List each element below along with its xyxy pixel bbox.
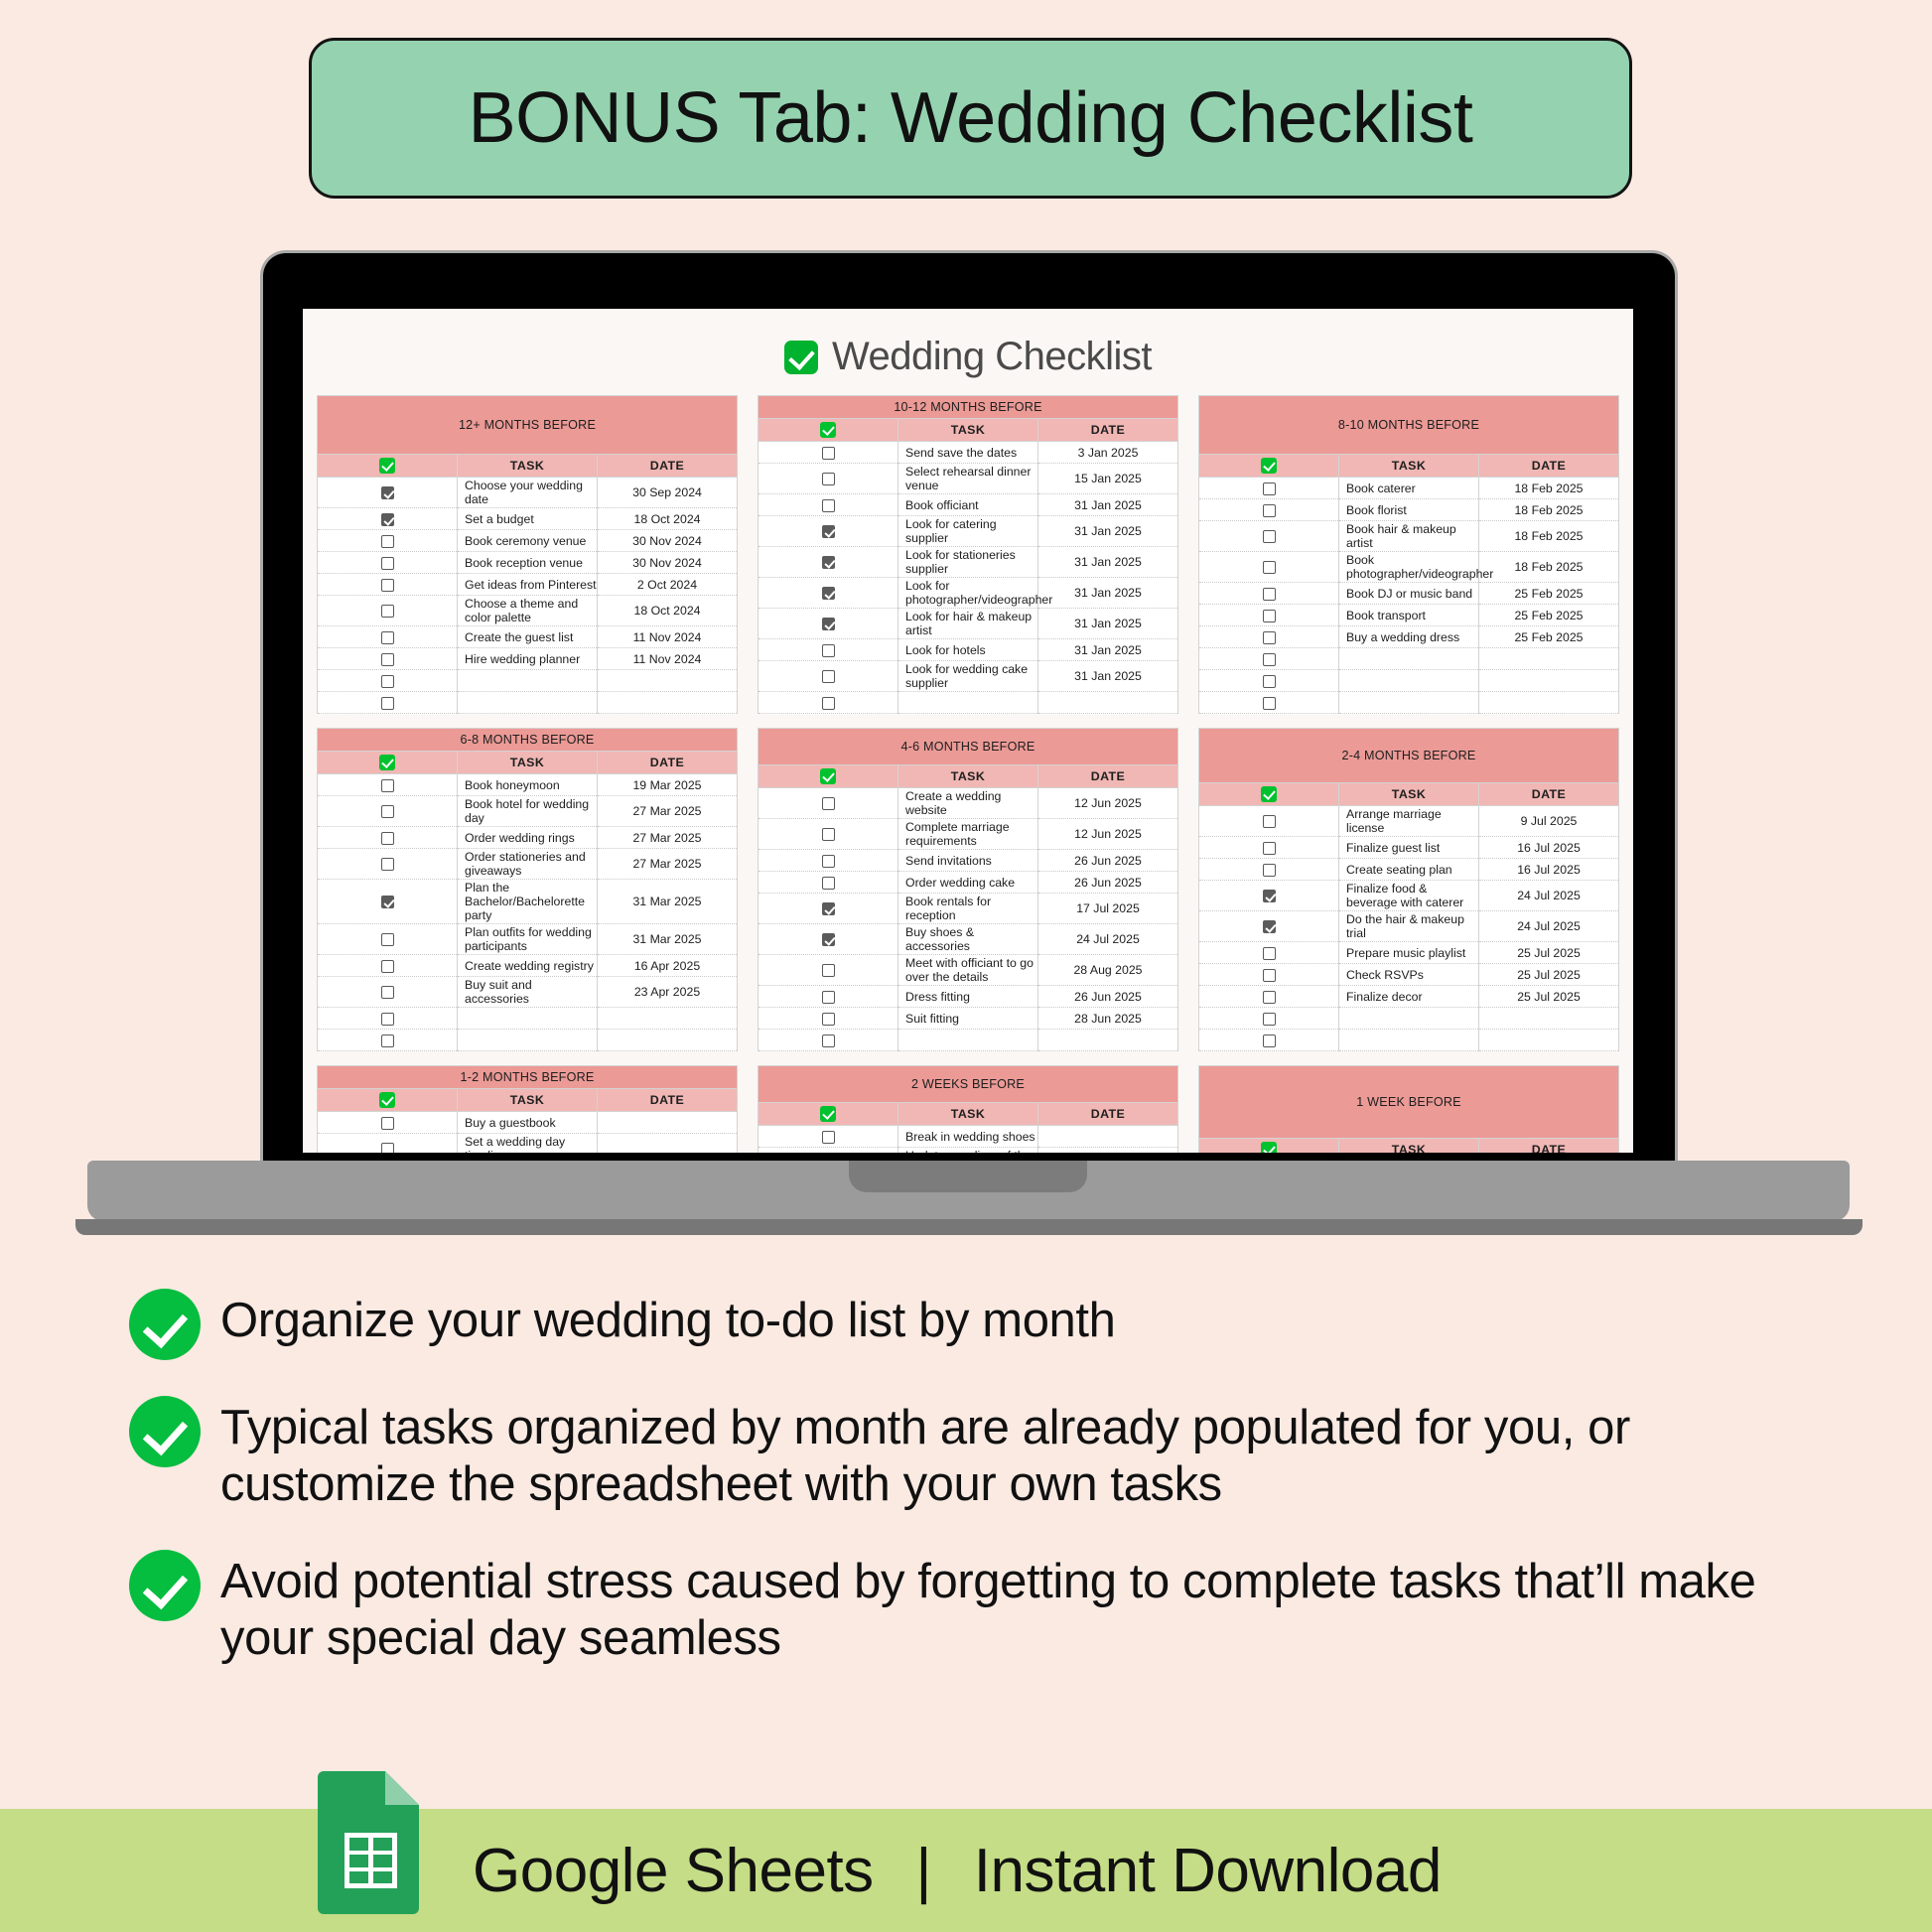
task-checkbox[interactable]	[1263, 561, 1276, 574]
date-cell[interactable]	[598, 1134, 738, 1154]
check-all-icon[interactable]	[820, 1106, 836, 1122]
task-checkbox[interactable]	[381, 697, 394, 710]
task-checkbox[interactable]	[1263, 653, 1276, 666]
task-cell[interactable]	[1339, 648, 1479, 670]
task-checkbox-cell[interactable]	[759, 516, 898, 547]
task-cell[interactable]: Create seating plan	[1339, 859, 1479, 881]
date-cell[interactable]: 25 Jul 2025	[1479, 964, 1619, 986]
date-cell[interactable]: 26 Jun 2025	[1038, 986, 1178, 1008]
task-cell[interactable]: Arrange marriage license	[1339, 806, 1479, 837]
date-cell[interactable]	[598, 1112, 738, 1134]
task-checkbox-cell[interactable]	[759, 924, 898, 955]
task-cell[interactable]: Finalize food & beverage with caterer	[1339, 881, 1479, 911]
date-cell[interactable]: 24 Jul 2025	[1479, 881, 1619, 911]
date-cell[interactable]	[598, 670, 738, 692]
task-checkbox[interactable]	[822, 644, 835, 657]
task-checkbox-cell[interactable]	[1199, 837, 1339, 859]
date-cell[interactable]: 19 Mar 2025	[598, 774, 738, 796]
task-cell[interactable]: Order stationeries and giveaways	[458, 849, 598, 880]
date-cell[interactable]: 30 Sep 2024	[598, 478, 738, 508]
task-checkbox-cell[interactable]	[1199, 605, 1339, 626]
date-cell[interactable]: 24 Jul 2025	[1038, 924, 1178, 955]
task-checkbox-cell[interactable]	[318, 692, 458, 714]
date-cell[interactable]: 27 Mar 2025	[598, 827, 738, 849]
feature-bullet: Organize your wedding to-do list by mont…	[129, 1287, 1837, 1360]
task-checkbox-cell[interactable]	[318, 574, 458, 596]
task-cell[interactable]: Finalize guest list	[1339, 837, 1479, 859]
task-checkbox[interactable]	[381, 513, 394, 526]
task-checkbox[interactable]	[1263, 697, 1276, 710]
task-checkbox-cell[interactable]	[1199, 552, 1339, 583]
date-cell[interactable]: 12 Jun 2025	[1038, 788, 1178, 819]
task-checkbox-cell[interactable]	[1199, 986, 1339, 1008]
table-row: Create the guest list11 Nov 2024	[318, 626, 738, 648]
date-cell[interactable]: 25 Jul 2025	[1479, 942, 1619, 964]
task-checkbox-cell[interactable]	[759, 661, 898, 692]
task-checkbox[interactable]	[822, 1013, 835, 1026]
task-cell[interactable]: Buy a guestbook	[458, 1112, 598, 1134]
task-checkbox[interactable]	[822, 670, 835, 683]
table-row: Book reception venue30 Nov 2024	[318, 552, 738, 574]
date-cell[interactable]: 28 Aug 2025	[1038, 955, 1178, 986]
task-cell[interactable]	[458, 670, 598, 692]
task-checkbox[interactable]	[1263, 815, 1276, 828]
task-checkbox-cell[interactable]	[759, 850, 898, 872]
task-checkbox-cell[interactable]	[318, 508, 458, 530]
table-title: 10-12 MONTHS BEFORE	[759, 396, 1178, 419]
task-checkbox-cell[interactable]	[759, 464, 898, 494]
task-checkbox[interactable]	[822, 587, 835, 600]
task-checkbox[interactable]	[381, 631, 394, 644]
checklist-table: 4-6 MONTHS BEFORETASKDATECreate a weddin…	[758, 728, 1178, 1051]
task-checkbox[interactable]	[1263, 842, 1276, 855]
date-cell[interactable]: 18 Feb 2025	[1479, 521, 1619, 552]
date-cell[interactable]: 11 Nov 2024	[598, 648, 738, 670]
header-check-toggle[interactable]	[759, 1103, 898, 1126]
task-cell[interactable]: Book transport	[1339, 605, 1479, 626]
task-checkbox-cell[interactable]	[1199, 911, 1339, 942]
date-cell[interactable]: 23 Apr 2025	[598, 977, 738, 1008]
date-cell[interactable]: 11 Nov 2024	[598, 626, 738, 648]
date-cell[interactable]	[598, 692, 738, 714]
task-checkbox-cell[interactable]	[759, 692, 898, 714]
table-row: Book rentals for reception17 Jul 2025	[759, 894, 1178, 924]
task-checkbox[interactable]	[822, 697, 835, 710]
task-checkbox-cell[interactable]	[759, 1030, 898, 1051]
task-checkbox-cell[interactable]	[1199, 692, 1339, 714]
task-checkbox[interactable]	[822, 991, 835, 1004]
task-checkbox-cell[interactable]	[318, 774, 458, 796]
date-cell[interactable]	[1038, 1030, 1178, 1051]
check-all-icon[interactable]	[820, 768, 836, 784]
task-checkbox-cell[interactable]	[759, 955, 898, 986]
task-checkbox[interactable]	[1263, 991, 1276, 1004]
task-checkbox[interactable]	[822, 447, 835, 460]
date-cell[interactable]: 25 Feb 2025	[1479, 626, 1619, 648]
task-cell[interactable]: Book rentals for reception	[898, 894, 1038, 924]
task-checkbox-cell[interactable]	[1199, 499, 1339, 521]
task-cell[interactable]: Order wedding cake	[898, 872, 1038, 894]
task-cell[interactable]: Complete marriage requirements	[898, 819, 1038, 850]
task-checkbox-cell[interactable]	[759, 639, 898, 661]
table-row: Book officiant31 Jan 2025	[759, 494, 1178, 516]
task-cell[interactable]	[898, 1030, 1038, 1051]
date-cell[interactable]: 26 Jun 2025	[1038, 872, 1178, 894]
task-cell[interactable]: Book DJ or music band	[1339, 583, 1479, 605]
task-cell[interactable]: Get ideas from Pinterest	[458, 574, 598, 596]
task-checkbox[interactable]	[381, 579, 394, 592]
task-checkbox-cell[interactable]	[318, 827, 458, 849]
task-checkbox[interactable]	[1263, 631, 1276, 644]
task-cell[interactable]: Buy suit and accessories	[458, 977, 598, 1008]
date-cell[interactable]: 18 Oct 2024	[598, 508, 738, 530]
task-checkbox[interactable]	[381, 805, 394, 818]
task-checkbox[interactable]	[1263, 890, 1276, 902]
date-cell[interactable]	[598, 1030, 738, 1051]
task-checkbox[interactable]	[1263, 969, 1276, 982]
task-cell[interactable]: Plan outfits for wedding participants	[458, 924, 598, 955]
table-row	[318, 670, 738, 692]
task-cell[interactable]: Book honeymoon	[458, 774, 598, 796]
task-checkbox[interactable]	[381, 858, 394, 871]
footer-content: Google Sheets | Instant Download	[314, 1809, 1442, 1932]
table-row	[318, 1008, 738, 1030]
task-checkbox[interactable]	[1263, 675, 1276, 688]
task-cell[interactable]	[458, 1008, 598, 1030]
column-header-date: DATE	[598, 455, 738, 478]
task-checkbox-cell[interactable]	[759, 894, 898, 924]
task-cell[interactable]: Choose a theme and color palette	[458, 596, 598, 626]
date-cell[interactable]	[1479, 692, 1619, 714]
task-checkbox-cell[interactable]	[318, 849, 458, 880]
date-cell[interactable]: 27 Mar 2025	[598, 796, 738, 827]
task-checkbox-cell[interactable]	[1199, 859, 1339, 881]
date-cell[interactable]: 24 Jul 2025	[1479, 911, 1619, 942]
task-cell[interactable]: Book florist	[1339, 499, 1479, 521]
task-checkbox-cell[interactable]	[318, 1112, 458, 1134]
task-checkbox-cell[interactable]	[759, 609, 898, 639]
table-row: Plan the Bachelor/Bachelorette party31 M…	[318, 880, 738, 924]
task-cell[interactable]	[1339, 692, 1479, 714]
check-all-icon[interactable]	[1261, 786, 1277, 802]
date-cell[interactable]: 15 Jan 2025	[1038, 464, 1178, 494]
task-cell[interactable]: Plan the Bachelor/Bachelorette party	[458, 880, 598, 924]
task-checkbox-cell[interactable]	[759, 788, 898, 819]
task-cell[interactable]: Book reception venue	[458, 552, 598, 574]
date-cell[interactable]	[1038, 1148, 1178, 1154]
task-checkbox-cell[interactable]	[759, 819, 898, 850]
task-cell[interactable]: Order wedding rings	[458, 827, 598, 849]
date-cell[interactable]	[598, 1008, 738, 1030]
task-checkbox[interactable]	[381, 986, 394, 999]
date-cell[interactable]: 31 Jan 2025	[1038, 578, 1178, 609]
table-row: Get ideas from Pinterest2 Oct 2024	[318, 574, 738, 596]
task-checkbox-cell[interactable]	[318, 478, 458, 508]
date-cell[interactable]: 2 Oct 2024	[598, 574, 738, 596]
task-cell[interactable]	[898, 692, 1038, 714]
task-checkbox[interactable]	[822, 525, 835, 538]
task-cell[interactable]: Break in wedding shoes	[898, 1126, 1038, 1148]
header-check-toggle[interactable]	[1199, 1139, 1339, 1154]
task-checkbox-cell[interactable]	[318, 530, 458, 552]
date-cell[interactable]: 18 Feb 2025	[1479, 552, 1619, 583]
task-checkbox[interactable]	[381, 960, 394, 973]
date-cell[interactable]	[1479, 648, 1619, 670]
task-checkbox-cell[interactable]	[318, 670, 458, 692]
task-checkbox-cell[interactable]	[759, 1148, 898, 1154]
task-cell[interactable]	[1339, 1030, 1479, 1051]
task-cell[interactable]: Look for hotels	[898, 639, 1038, 661]
task-checkbox-cell[interactable]	[318, 955, 458, 977]
checklist-table: 1 WEEK BEFORETASKDATEPack for honeymoonP…	[1198, 1065, 1619, 1153]
task-checkbox[interactable]	[822, 1035, 835, 1047]
task-checkbox-cell[interactable]	[1199, 670, 1339, 692]
task-checkbox[interactable]	[822, 933, 835, 946]
task-cell[interactable]: Book hair & makeup artist	[1339, 521, 1479, 552]
task-checkbox[interactable]	[1263, 947, 1276, 960]
laptop-screen: Wedding Checklist 12+ MONTHS BEFORETASKD…	[303, 309, 1633, 1153]
task-cell[interactable]: Book photographer/videographer	[1339, 552, 1479, 583]
task-checkbox[interactable]	[822, 877, 835, 890]
task-checkbox-cell[interactable]	[759, 1008, 898, 1030]
task-cell[interactable]: Set a budget	[458, 508, 598, 530]
task-cell[interactable]: Look for stationeries supplier	[898, 547, 1038, 578]
date-cell[interactable]: 12 Jun 2025	[1038, 819, 1178, 850]
task-cell[interactable]: Set a wedding day timeline	[458, 1134, 598, 1154]
task-checkbox[interactable]	[1263, 588, 1276, 601]
task-cell[interactable]: Buy shoes & accessories	[898, 924, 1038, 955]
table-row	[759, 692, 1178, 714]
date-cell[interactable]	[1479, 670, 1619, 692]
task-checkbox[interactable]	[381, 675, 394, 688]
task-checkbox[interactable]	[822, 499, 835, 512]
task-cell[interactable]: Finalize decor	[1339, 986, 1479, 1008]
task-cell[interactable]: Look for catering supplier	[898, 516, 1038, 547]
header-check-toggle[interactable]	[759, 419, 898, 442]
task-checkbox[interactable]	[381, 1117, 394, 1130]
task-checkbox-cell[interactable]	[1199, 1008, 1339, 1030]
check-all-icon[interactable]	[1261, 1142, 1277, 1153]
table-row: Book hotel for wedding day27 Mar 2025	[318, 796, 738, 827]
task-cell[interactable]: Suit fitting	[898, 1008, 1038, 1030]
task-cell[interactable]: Look for wedding cake supplier	[898, 661, 1038, 692]
task-checkbox-cell[interactable]	[759, 986, 898, 1008]
task-checkbox[interactable]	[822, 618, 835, 630]
task-cell[interactable]: Select rehearsal dinner venue	[898, 464, 1038, 494]
task-checkbox[interactable]	[822, 828, 835, 841]
date-cell[interactable]: 25 Jul 2025	[1479, 986, 1619, 1008]
task-checkbox-cell[interactable]	[1199, 626, 1339, 648]
date-cell[interactable]: 16 Apr 2025	[598, 955, 738, 977]
date-cell[interactable]: 17 Jul 2025	[1038, 894, 1178, 924]
task-checkbox-cell[interactable]	[1199, 942, 1339, 964]
table-row: Prepare music playlist25 Jul 2025	[1199, 942, 1619, 964]
task-cell[interactable]	[458, 1030, 598, 1051]
task-checkbox[interactable]	[1263, 483, 1276, 495]
task-checkbox-cell[interactable]	[318, 596, 458, 626]
task-checkbox[interactable]	[1263, 1013, 1276, 1026]
task-cell[interactable]: Prepare music playlist	[1339, 942, 1479, 964]
header-check-toggle[interactable]	[759, 765, 898, 788]
date-cell[interactable]: 31 Jan 2025	[1038, 494, 1178, 516]
task-checkbox[interactable]	[381, 486, 394, 499]
date-cell[interactable]: 9 Jul 2025	[1479, 806, 1619, 837]
task-cell[interactable]: Create a wedding website	[898, 788, 1038, 819]
task-checkbox-cell[interactable]	[318, 880, 458, 924]
task-checkbox[interactable]	[822, 797, 835, 810]
task-cell[interactable]: Do the hair & makeup trial	[1339, 911, 1479, 942]
task-cell[interactable]	[458, 692, 598, 714]
task-checkbox-cell[interactable]	[759, 872, 898, 894]
date-cell[interactable]: 31 Jan 2025	[1038, 661, 1178, 692]
column-header-task: TASK	[898, 1103, 1038, 1126]
task-cell[interactable]: Hire wedding planner	[458, 648, 598, 670]
task-cell[interactable]: Send save the dates	[898, 442, 1038, 464]
task-cell[interactable]: Check RSVPs	[1339, 964, 1479, 986]
task-checkbox-cell[interactable]	[1199, 1030, 1339, 1051]
task-checkbox[interactable]	[822, 902, 835, 915]
task-cell[interactable]: Buy a wedding dress	[1339, 626, 1479, 648]
task-checkbox-cell[interactable]	[759, 494, 898, 516]
task-cell[interactable]: Book caterer	[1339, 478, 1479, 499]
task-checkbox[interactable]	[381, 1143, 394, 1153]
table-row: Order stationeries and giveaways27 Mar 2…	[318, 849, 738, 880]
check-all-icon[interactable]	[1261, 458, 1277, 474]
date-cell[interactable]	[1038, 692, 1178, 714]
header-check-toggle[interactable]	[318, 752, 458, 774]
task-cell[interactable]	[1339, 1008, 1479, 1030]
date-cell[interactable]: 31 Jan 2025	[1038, 516, 1178, 547]
task-checkbox-cell[interactable]	[759, 442, 898, 464]
task-checkbox[interactable]	[1263, 1035, 1276, 1047]
date-cell[interactable]: 28 Jun 2025	[1038, 1008, 1178, 1030]
table-row: Check RSVPs25 Jul 2025	[1199, 964, 1619, 986]
task-checkbox[interactable]	[1263, 864, 1276, 877]
task-checkbox-cell[interactable]	[318, 924, 458, 955]
date-cell[interactable]: 31 Jan 2025	[1038, 609, 1178, 639]
task-cell[interactable]	[1339, 670, 1479, 692]
task-checkbox[interactable]	[381, 1035, 394, 1047]
date-cell[interactable]: 18 Oct 2024	[598, 596, 738, 626]
header-check-toggle[interactable]	[318, 455, 458, 478]
task-checkbox[interactable]	[381, 653, 394, 666]
date-cell[interactable]: 31 Mar 2025	[598, 924, 738, 955]
task-checkbox-cell[interactable]	[1199, 806, 1339, 837]
task-checkbox[interactable]	[822, 556, 835, 569]
date-cell[interactable]	[1038, 1126, 1178, 1148]
task-checkbox[interactable]	[381, 933, 394, 946]
task-cell[interactable]: Meet with officiant to go over the detai…	[898, 955, 1038, 986]
date-cell[interactable]: 31 Jan 2025	[1038, 547, 1178, 578]
task-checkbox[interactable]	[1263, 530, 1276, 543]
task-checkbox-cell[interactable]	[1199, 964, 1339, 986]
date-cell[interactable]: 25 Feb 2025	[1479, 605, 1619, 626]
date-cell[interactable]	[1479, 1030, 1619, 1051]
task-cell[interactable]: Book officiant	[898, 494, 1038, 516]
date-cell[interactable]: 31 Jan 2025	[1038, 639, 1178, 661]
task-checkbox[interactable]	[381, 779, 394, 792]
task-checkbox[interactable]	[381, 1013, 394, 1026]
task-cell[interactable]: Dress fitting	[898, 986, 1038, 1008]
date-cell[interactable]: 31 Mar 2025	[598, 880, 738, 924]
date-cell[interactable]	[1479, 1008, 1619, 1030]
date-cell[interactable]: 16 Jul 2025	[1479, 837, 1619, 859]
task-checkbox[interactable]	[381, 535, 394, 548]
table-row	[1199, 1030, 1619, 1051]
task-checkbox-cell[interactable]	[759, 547, 898, 578]
check-all-icon[interactable]	[820, 422, 836, 438]
date-cell[interactable]: 26 Jun 2025	[1038, 850, 1178, 872]
task-checkbox-cell[interactable]	[318, 977, 458, 1008]
task-checkbox[interactable]	[1263, 610, 1276, 622]
task-cell[interactable]: Look for photographer/videographer	[898, 578, 1038, 609]
checklist-table: 1-2 MONTHS BEFORETASKDATEBuy a guestbook…	[317, 1065, 738, 1153]
green-check-emoji-icon	[784, 341, 818, 374]
task-cell[interactable]: Update suppliers of the final guest coun…	[898, 1148, 1038, 1154]
task-checkbox[interactable]	[1263, 504, 1276, 517]
date-cell[interactable]: 30 Nov 2024	[598, 552, 738, 574]
task-checkbox[interactable]	[381, 832, 394, 845]
task-cell[interactable]: Look for hair & makeup artist	[898, 609, 1038, 639]
date-cell[interactable]: 27 Mar 2025	[598, 849, 738, 880]
task-checkbox-cell[interactable]	[318, 626, 458, 648]
date-cell[interactable]: 18 Feb 2025	[1479, 499, 1619, 521]
feature-bullet: Avoid potential stress caused by forgett…	[129, 1548, 1837, 1668]
task-checkbox-cell[interactable]	[318, 648, 458, 670]
task-cell[interactable]: Choose your wedding date	[458, 478, 598, 508]
task-checkbox[interactable]	[822, 473, 835, 485]
task-checkbox[interactable]	[381, 896, 394, 908]
task-checkbox-cell[interactable]	[1199, 521, 1339, 552]
task-cell[interactable]: Create wedding registry	[458, 955, 598, 977]
laptop-foot	[75, 1219, 1863, 1235]
date-cell[interactable]: 18 Feb 2025	[1479, 478, 1619, 499]
task-checkbox-cell[interactable]	[759, 1126, 898, 1148]
check-all-icon[interactable]	[379, 1092, 395, 1108]
task-checkbox-cell[interactable]	[759, 578, 898, 609]
feature-bullet-text: Typical tasks organized by month are alr…	[220, 1394, 1837, 1514]
date-cell[interactable]: 16 Jul 2025	[1479, 859, 1619, 881]
task-checkbox[interactable]	[822, 1131, 835, 1144]
task-checkbox-cell[interactable]	[318, 1030, 458, 1051]
task-checkbox[interactable]	[381, 605, 394, 618]
task-checkbox[interactable]	[822, 964, 835, 977]
header-check-toggle[interactable]	[318, 1089, 458, 1112]
task-checkbox[interactable]	[822, 855, 835, 868]
task-checkbox-cell[interactable]	[1199, 478, 1339, 499]
task-checkbox-cell[interactable]	[318, 1008, 458, 1030]
task-cell[interactable]: Book ceremony venue	[458, 530, 598, 552]
task-cell[interactable]: Send invitations	[898, 850, 1038, 872]
check-all-icon[interactable]	[379, 755, 395, 770]
task-checkbox-cell[interactable]	[318, 1134, 458, 1154]
task-checkbox[interactable]	[1263, 920, 1276, 933]
check-all-icon[interactable]	[379, 458, 395, 474]
task-cell[interactable]: Book hotel for wedding day	[458, 796, 598, 827]
task-checkbox-cell[interactable]	[1199, 648, 1339, 670]
date-cell[interactable]: 3 Jan 2025	[1038, 442, 1178, 464]
date-cell[interactable]: 30 Nov 2024	[598, 530, 738, 552]
header-check-toggle[interactable]	[1199, 455, 1339, 478]
task-cell[interactable]: Create the guest list	[458, 626, 598, 648]
task-checkbox-cell[interactable]	[1199, 583, 1339, 605]
task-checkbox-cell[interactable]	[1199, 881, 1339, 911]
task-checkbox-cell[interactable]	[318, 552, 458, 574]
task-checkbox[interactable]	[381, 557, 394, 570]
task-checkbox-cell[interactable]	[318, 796, 458, 827]
header-check-toggle[interactable]	[1199, 783, 1339, 806]
date-cell[interactable]: 25 Feb 2025	[1479, 583, 1619, 605]
